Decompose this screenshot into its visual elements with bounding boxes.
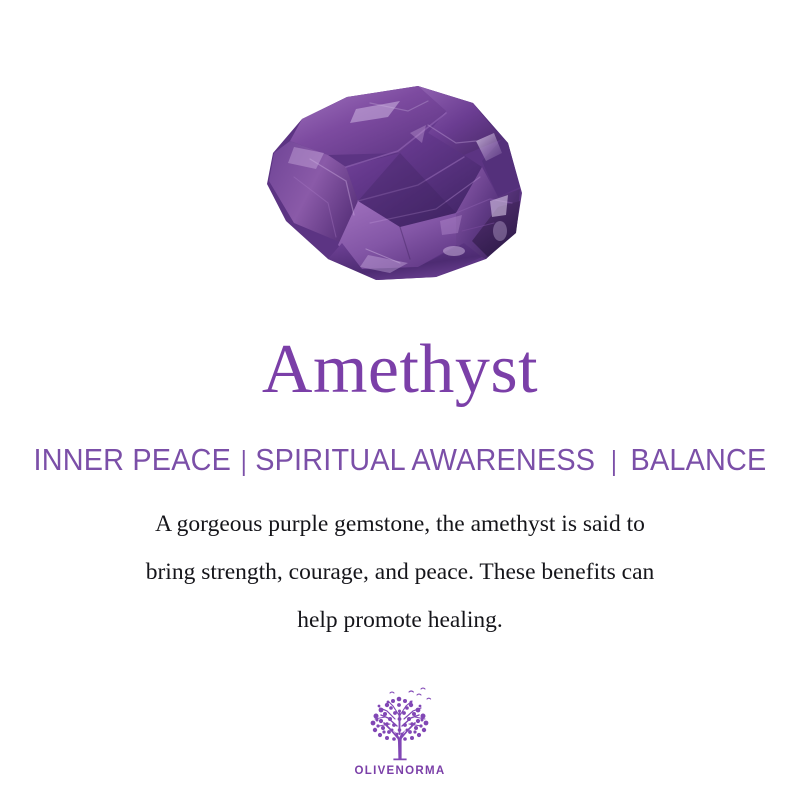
description-line-3: help promote healing. [60, 596, 740, 644]
attribute-separator-2: | [613, 450, 615, 476]
brand-name: OLIVENORMA [355, 765, 446, 777]
tree-logo-icon [357, 686, 443, 762]
attribute-inner-peace: INNER PEACE [34, 442, 231, 477]
description-line-1: A gorgeous purple gemstone, the amethyst… [60, 500, 740, 548]
amethyst-crystal-image [0, 72, 800, 307]
product-attributes: INNER PEACE|SPIRITUAL AWARENESS|BALANCE [28, 441, 772, 479]
amethyst-crystal-illustration [250, 81, 550, 299]
birds [390, 688, 431, 699]
product-card: Amethyst INNER PEACE|SPIRITUAL AWARENESS… [0, 0, 800, 800]
attribute-spiritual-awareness: SPIRITUAL AWARENESS [255, 442, 595, 477]
brand-logo: OLIVENORMA [0, 686, 800, 777]
attribute-separator-1: | [243, 450, 245, 476]
attribute-balance: BALANCE [631, 442, 767, 477]
product-description: A gorgeous purple gemstone, the amethyst… [60, 500, 740, 644]
tree-canopy [371, 688, 431, 760]
description-line-2: bring strength, courage, and peace. Thes… [60, 548, 740, 596]
product-title: Amethyst [0, 331, 800, 409]
